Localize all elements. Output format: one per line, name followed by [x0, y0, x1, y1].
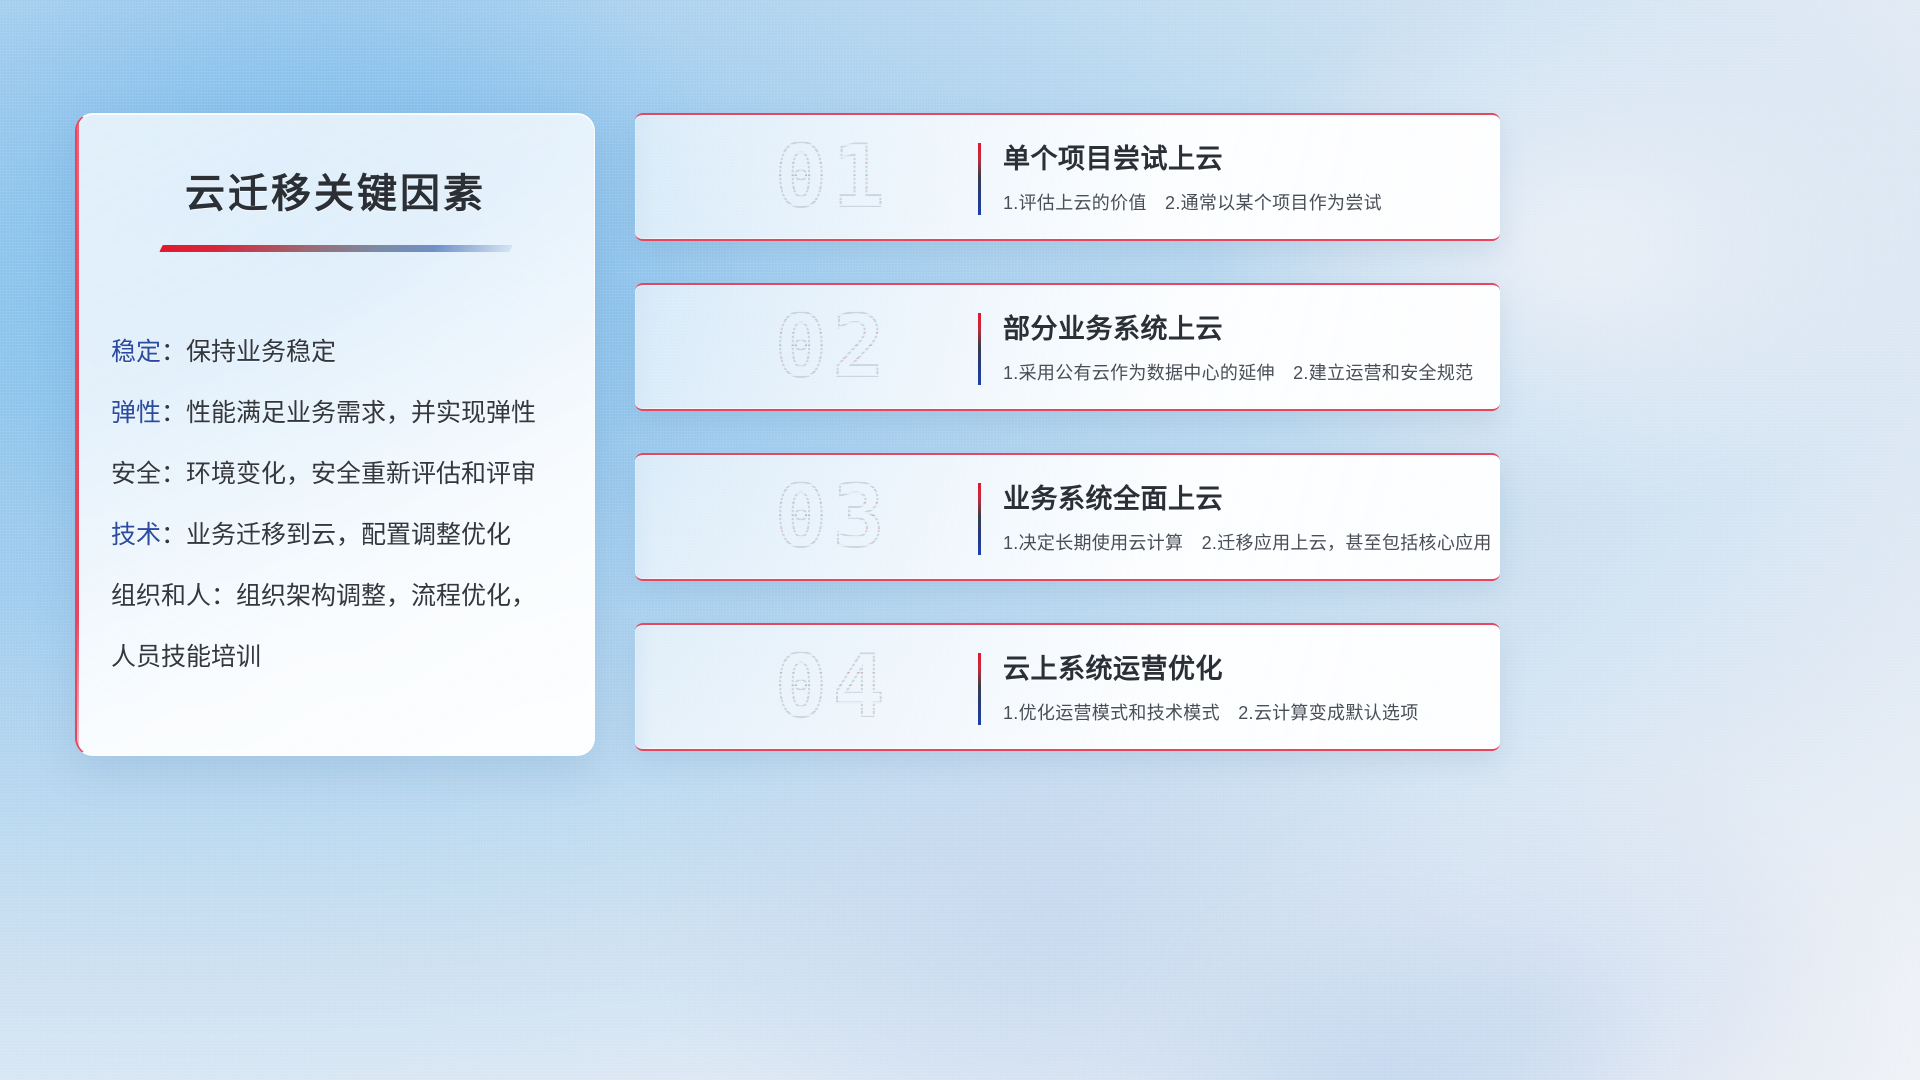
factor-text: 人员技能培训	[111, 643, 261, 671]
factor-separator: ：	[161, 399, 186, 427]
stage-divider-accent	[978, 313, 981, 385]
factor-key: 安全	[111, 460, 161, 488]
stage-card[interactable]: 01 01 单个项目尝试上云 1.评估上云的价值 2.通常以某个项目作为尝试	[635, 113, 1500, 241]
list-item: 安全：环境变化，安全重新评估和评审	[111, 444, 594, 505]
stage-card[interactable]: 04 04 云上系统运营优化 1.优化运营模式和技术模式 2.云计算变成默认选项	[635, 623, 1500, 751]
list-item: 组织和人：组织架构调整，流程优化，	[111, 566, 594, 627]
list-item: 人员技能培训	[111, 627, 594, 688]
stage-description: 1.评估上云的价值 2.通常以某个项目作为尝试	[1003, 189, 1476, 215]
stage-number: 02	[775, 304, 891, 390]
factor-text: 环境变化，安全重新评估和评审	[186, 460, 536, 488]
factor-separator: ：	[161, 338, 186, 366]
factor-key: 技术	[111, 521, 161, 549]
stage-divider-accent	[978, 653, 981, 725]
factor-key: 弹性	[111, 399, 161, 427]
stage-description: 1.决定长期使用云计算 2.迁移应用上云，甚至包括核心应用	[1003, 529, 1476, 555]
stage-card-list: 01 01 单个项目尝试上云 1.评估上云的价值 2.通常以某个项目作为尝试 0…	[635, 113, 1500, 793]
slide-stage: 云迁移关键因素 稳定：保持业务稳定 弹性：性能满足业务需求，并实现弹性 安全：环…	[0, 0, 1920, 1080]
page-title: 云迁移关键因素	[77, 161, 594, 219]
stage-card-body: 部分业务系统上云 1.采用公有云作为数据中心的延伸 2.建立运营和安全规范	[1003, 307, 1476, 385]
factor-separator: ：	[161, 460, 186, 488]
key-factors-panel: 云迁移关键因素 稳定：保持业务稳定 弹性：性能满足业务需求，并实现弹性 安全：环…	[75, 113, 595, 756]
stage-divider-accent	[978, 483, 981, 555]
stage-card-body: 云上系统运营优化 1.优化运营模式和技术模式 2.云计算变成默认选项	[1003, 647, 1476, 725]
stage-title: 业务系统全面上云	[1003, 477, 1476, 516]
factor-text: 保持业务稳定	[186, 338, 336, 366]
stage-description: 1.优化运营模式和技术模式 2.云计算变成默认选项	[1003, 699, 1476, 725]
factor-list: 稳定：保持业务稳定 弹性：性能满足业务需求，并实现弹性 安全：环境变化，安全重新…	[77, 322, 594, 688]
stage-title: 云上系统运营优化	[1003, 647, 1476, 686]
stage-number-tint: 04	[775, 644, 891, 730]
factor-key: 稳定	[111, 338, 161, 366]
factor-text: 性能满足业务需求，并实现弹性	[186, 399, 536, 427]
stage-card-body: 单个项目尝试上云 1.评估上云的价值 2.通常以某个项目作为尝试	[1003, 137, 1476, 215]
stage-number: 01	[775, 134, 891, 220]
factor-text: 业务迁移到云，配置调整优化	[186, 521, 511, 549]
stage-number-tint: 01	[775, 134, 891, 220]
stage-description: 1.采用公有云作为数据中心的延伸 2.建立运营和安全规范	[1003, 359, 1476, 385]
title-underline-accent	[159, 245, 512, 252]
stage-number: 03	[775, 474, 891, 560]
stage-number-tint: 03	[775, 474, 891, 560]
stage-number-tint: 02	[775, 304, 891, 390]
list-item: 稳定：保持业务稳定	[111, 322, 594, 383]
stage-title: 部分业务系统上云	[1003, 307, 1476, 346]
stage-card[interactable]: 02 02 部分业务系统上云 1.采用公有云作为数据中心的延伸 2.建立运营和安…	[635, 283, 1500, 411]
factor-separator: ：	[161, 521, 186, 549]
stage-card-body: 业务系统全面上云 1.决定长期使用云计算 2.迁移应用上云，甚至包括核心应用	[1003, 477, 1476, 555]
factor-separator: ：	[211, 582, 236, 610]
stage-card[interactable]: 03 03 业务系统全面上云 1.决定长期使用云计算 2.迁移应用上云，甚至包括…	[635, 453, 1500, 581]
stage-divider-accent	[978, 143, 981, 215]
stage-number: 04	[775, 644, 891, 730]
list-item: 技术：业务迁移到云，配置调整优化	[111, 505, 594, 566]
list-item: 弹性：性能满足业务需求，并实现弹性	[111, 383, 594, 444]
stage-title: 单个项目尝试上云	[1003, 137, 1476, 176]
factor-key: 组织和人	[111, 582, 211, 610]
factor-text: 组织架构调整，流程优化，	[236, 582, 536, 610]
